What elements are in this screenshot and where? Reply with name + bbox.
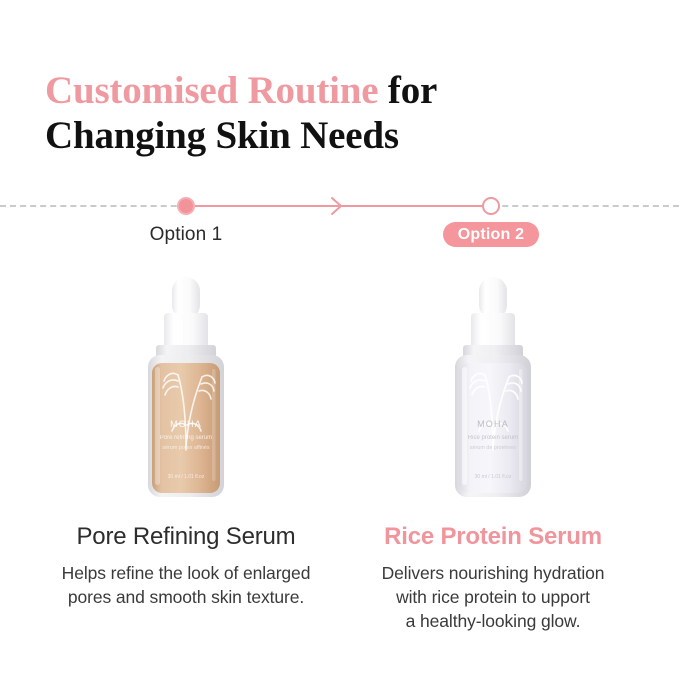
- routine-timeline: [0, 190, 679, 224]
- product-description-line: with rice protein to upport: [333, 585, 653, 609]
- product-title: Pore Refining Serum: [26, 523, 346, 551]
- option-1-label[interactable]: Option 1: [116, 224, 256, 246]
- serum-bottle-icon: MOHA Rice protein serum sérum de protéin…: [433, 275, 553, 505]
- step-node-option2[interactable]: [482, 197, 500, 215]
- step-node-option1[interactable]: [177, 197, 195, 215]
- bottle-brand-text: MOHA: [477, 419, 509, 429]
- product-title: Rice Protein Serum: [333, 523, 653, 551]
- bottle-label-line1: Pore refining serum: [160, 435, 212, 441]
- bottle-label-line1: Rice protein serum: [468, 435, 518, 441]
- product-card-option2: MOHA Rice protein serum sérum de protéin…: [333, 275, 653, 633]
- bottle-label-line2: sérum de protéines: [470, 445, 516, 451]
- product-card-option1: MOHA Pore refining serum sérum pores aff…: [26, 275, 346, 609]
- page-title-line2: Changing Skin Needs: [45, 114, 399, 157]
- product-description: Delivers nourishing hydration with rice …: [333, 561, 653, 633]
- page-title-accent: Customised Routine: [45, 69, 378, 112]
- bottle-volume-text: 30 ml / 1.01 fl.oz: [475, 474, 512, 480]
- option-2-badge[interactable]: Option 2: [443, 222, 539, 247]
- product-description-line: pores and smooth skin texture.: [26, 585, 346, 609]
- serum-bottle-icon: MOHA Pore refining serum sérum pores aff…: [126, 275, 246, 505]
- bottle-label-line2: sérum pores affinés: [162, 445, 210, 451]
- page-title-rest: for: [378, 69, 437, 112]
- chevron-right-icon: [330, 196, 344, 216]
- bottle-volume-text: 30 ml / 1.01 fl.oz: [168, 474, 205, 480]
- bottle-brand-text: MOHA: [170, 419, 202, 429]
- product-description: Helps refine the look of enlarged pores …: [26, 561, 346, 609]
- product-description-line: Helps refine the look of enlarged: [26, 561, 346, 585]
- product-image-pore-refining-serum: MOHA Pore refining serum sérum pores aff…: [26, 275, 346, 505]
- product-description-line: Delivers nourishing hydration: [333, 561, 653, 585]
- page-title: Customised Routine for Changing Skin Nee…: [45, 68, 645, 158]
- product-description-line: a healthy-looking glow.: [333, 609, 653, 633]
- product-image-rice-protein-serum: MOHA Rice protein serum sérum de protéin…: [333, 275, 653, 505]
